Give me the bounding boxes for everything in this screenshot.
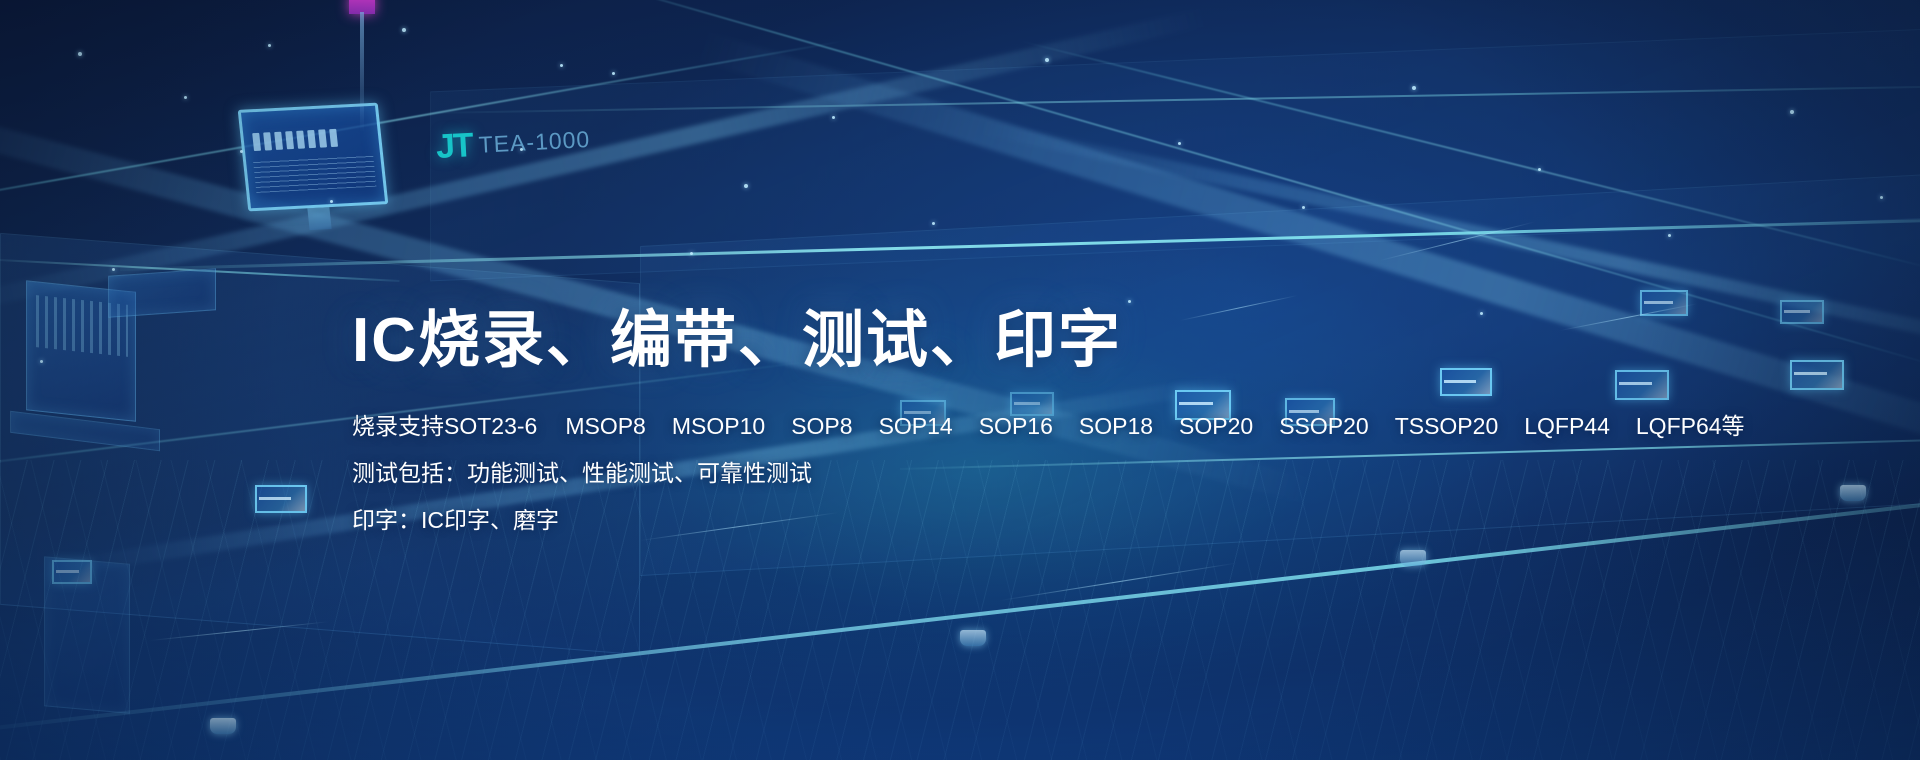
package-chip: MSOP8 — [565, 415, 646, 438]
brand-logo: JT TEA-1000 — [435, 120, 591, 167]
light-particle — [1128, 300, 1131, 303]
hero-subtext: 烧录支持SOT23-6 MSOP8 MSOP10 SOP8 SOP14 SOP1… — [352, 415, 1602, 532]
light-particle — [744, 184, 748, 188]
light-particle — [1302, 206, 1305, 209]
package-chip: SOP14 — [879, 415, 953, 438]
light-particle — [690, 252, 693, 255]
chip-tray-icon — [52, 560, 92, 584]
package-chip: SOP20 — [1179, 415, 1253, 438]
light-particle — [40, 360, 43, 363]
light-particle — [1178, 142, 1181, 145]
light-particle — [520, 148, 523, 151]
package-chip: LQFP64 — [1636, 415, 1722, 438]
indicator-pole — [360, 12, 364, 132]
packages-line: 烧录支持SOT23-6 MSOP8 MSOP10 SOP8 SOP14 SOP1… — [352, 415, 1602, 438]
light-particle — [240, 150, 243, 153]
caster-wheel — [1840, 485, 1866, 501]
light-particle — [1668, 234, 1671, 237]
packages-suffix: 等 — [1722, 415, 1745, 438]
banner-hero: JT TEA-1000 IC烧录、编带、测试、 — [0, 0, 1920, 760]
monitor-screen-lines — [253, 155, 376, 193]
package-chip: LQFP44 — [1524, 415, 1610, 438]
package-chip: MSOP10 — [672, 415, 765, 438]
monitor-display — [238, 103, 389, 212]
package-chip: TSSOP20 — [1395, 415, 1499, 438]
machine-arm-left — [108, 268, 216, 318]
light-particle — [330, 200, 333, 203]
light-particle — [1880, 196, 1883, 199]
light-particle — [1412, 86, 1416, 90]
light-particle — [1790, 110, 1794, 114]
chip-tray-icon — [1615, 370, 1669, 400]
light-particle — [560, 64, 563, 67]
package-chip: SOP18 — [1079, 415, 1153, 438]
light-particle — [612, 72, 615, 75]
light-particle — [402, 28, 406, 32]
light-particle — [1538, 168, 1541, 171]
packages-lead-label: 烧录支持SOT23-6 — [352, 415, 537, 438]
package-chip: SOP16 — [979, 415, 1053, 438]
testing-line: 测试包括：功能测试、性能测试、可靠性测试 — [352, 462, 1602, 485]
light-particle — [112, 268, 115, 271]
light-particle — [1045, 58, 1049, 62]
hero-text-block: IC烧录、编带、测试、印字 烧录支持SOT23-6 MSOP8 MSOP10 S… — [352, 306, 1602, 556]
caster-wheel — [960, 630, 986, 646]
brand-model-text: TEA-1000 — [478, 126, 591, 159]
chip-tray-icon — [1780, 300, 1824, 324]
light-particle — [184, 96, 187, 99]
page-title: IC烧录、编带、测试、印字 — [352, 306, 1602, 375]
brand-logo-text: JT — [435, 126, 473, 167]
status-indicator-light — [349, 0, 375, 14]
light-particle — [932, 222, 935, 225]
light-particle — [832, 116, 835, 119]
chip-tray-icon — [1790, 360, 1844, 390]
caster-wheel — [210, 718, 236, 734]
light-particle — [268, 44, 271, 47]
light-particle — [78, 52, 82, 56]
package-chip: SOP8 — [791, 415, 852, 438]
package-chip: SSOP20 — [1279, 415, 1369, 438]
monitor-stand — [307, 207, 331, 230]
marking-line: 印字：IC印字、磨字 — [352, 509, 1602, 532]
chip-tray-icon — [255, 485, 307, 513]
